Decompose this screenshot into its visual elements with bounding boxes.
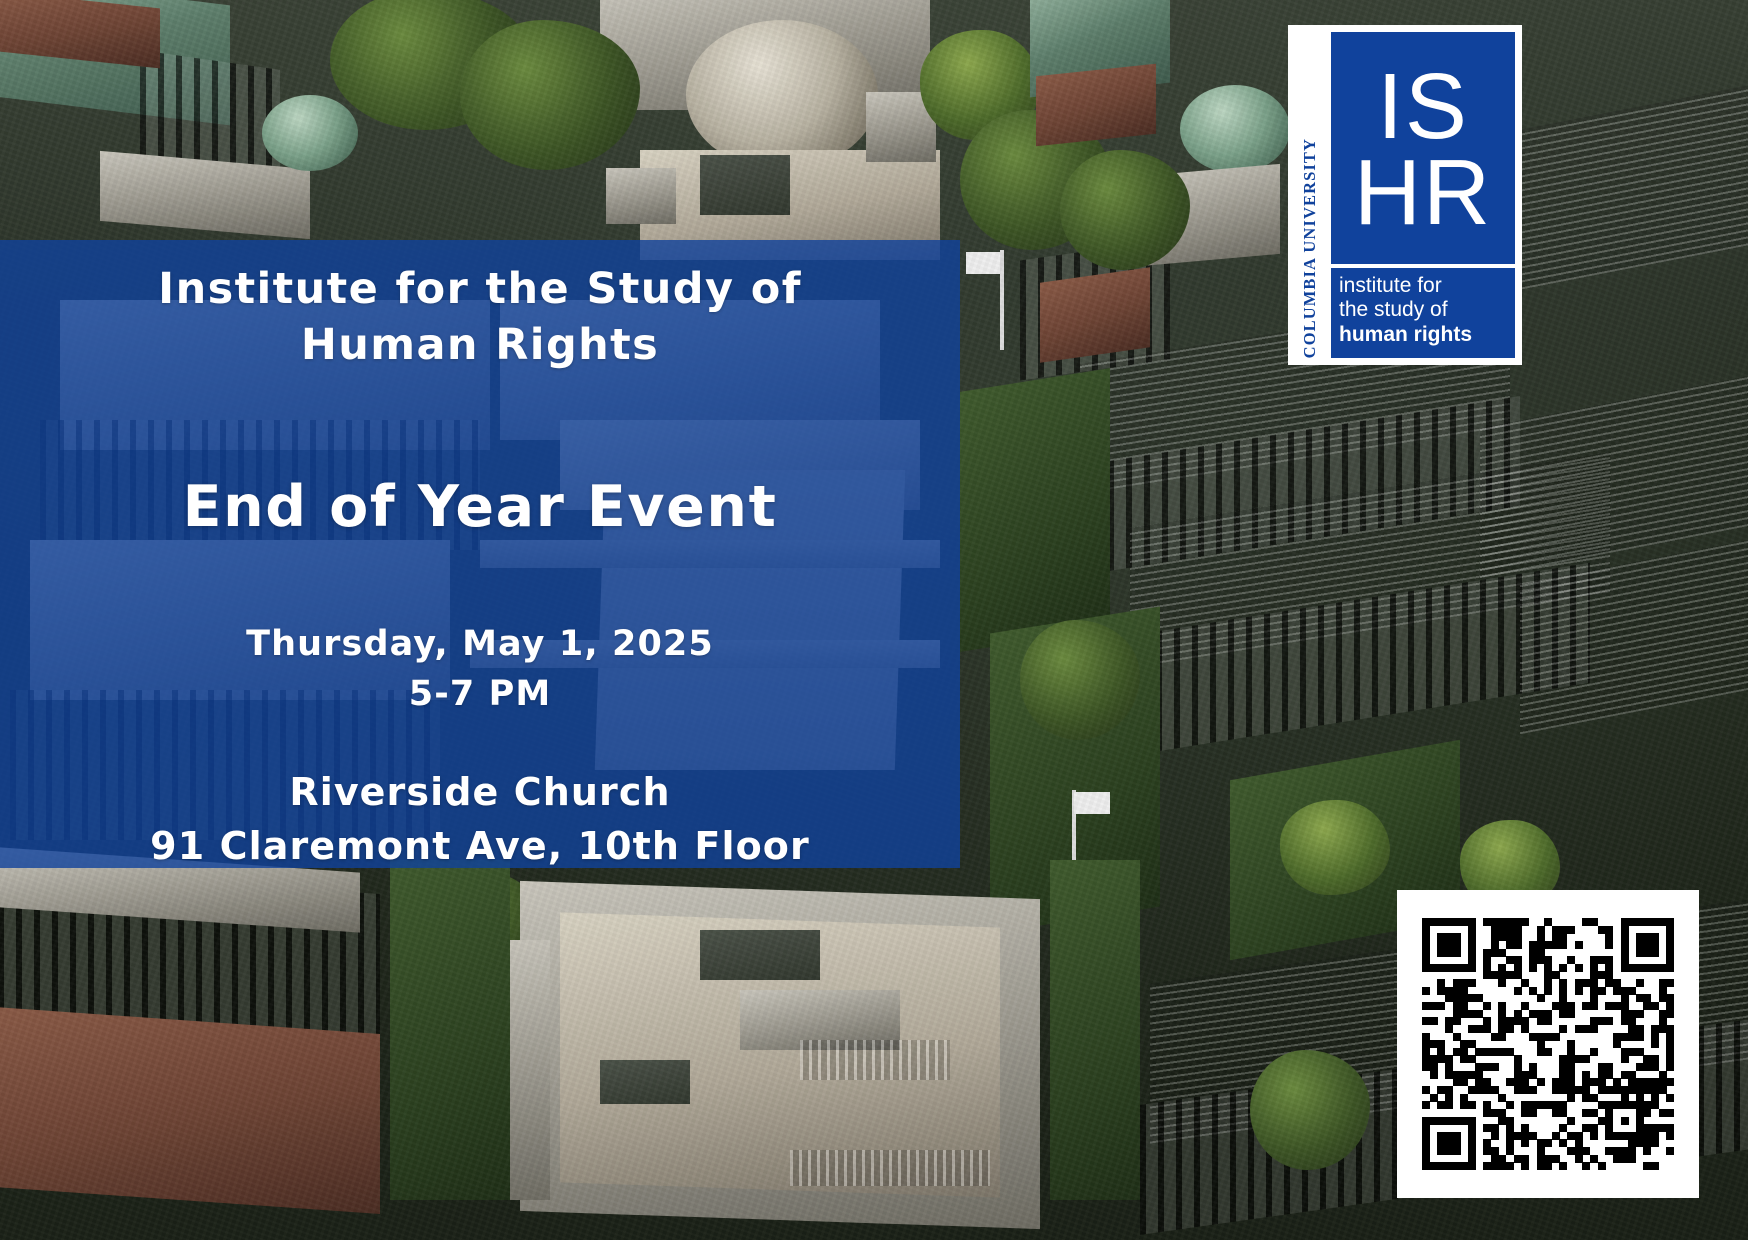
columbia-university-wordmark: COLUMBIA UNIVERSITY: [1295, 32, 1325, 358]
org-title-line1: Institute for the Study of: [158, 264, 802, 314]
ishr-tagline: institute for the study of human rights: [1331, 268, 1515, 358]
event-time: 5-7 PM: [0, 670, 960, 720]
organization-title: Institute for the Study of Human Rights: [0, 240, 960, 374]
ishr-tagline-line1: institute for: [1339, 274, 1515, 298]
event-date: Thursday, May 1, 2025: [0, 620, 960, 670]
event-title: End of Year Event: [0, 374, 960, 539]
ishr-logo-body: IS HR institute for the study of human r…: [1331, 32, 1515, 358]
ishr-acronym-line2: HR: [1354, 150, 1492, 236]
columbia-university-label: COLUMBIA UNIVERSITY: [1302, 137, 1319, 358]
ishr-tagline-line2: the study of: [1339, 298, 1515, 322]
ishr-tagline-line3: human rights: [1339, 323, 1515, 347]
org-title-line2: Human Rights: [301, 320, 659, 370]
ishr-logo: COLUMBIA UNIVERSITY IS HR institute for …: [1288, 25, 1522, 365]
venue-name: Riverside Church: [0, 766, 960, 820]
event-poster: Institute for the Study of Human Rights …: [0, 0, 1748, 1240]
event-location: Riverside Church 91 Claremont Ave, 10th …: [0, 720, 960, 874]
ishr-acronym-mark: IS HR: [1331, 32, 1515, 264]
venue-address: 91 Claremont Ave, 10th Floor: [0, 820, 960, 874]
qr-code[interactable]: [1397, 890, 1699, 1198]
ishr-acronym-line1: IS: [1377, 64, 1469, 150]
event-datetime: Thursday, May 1, 2025 5-7 PM: [0, 538, 960, 719]
event-info-panel: Institute for the Study of Human Rights …: [0, 240, 960, 868]
qr-code-icon[interactable]: [1422, 918, 1674, 1170]
